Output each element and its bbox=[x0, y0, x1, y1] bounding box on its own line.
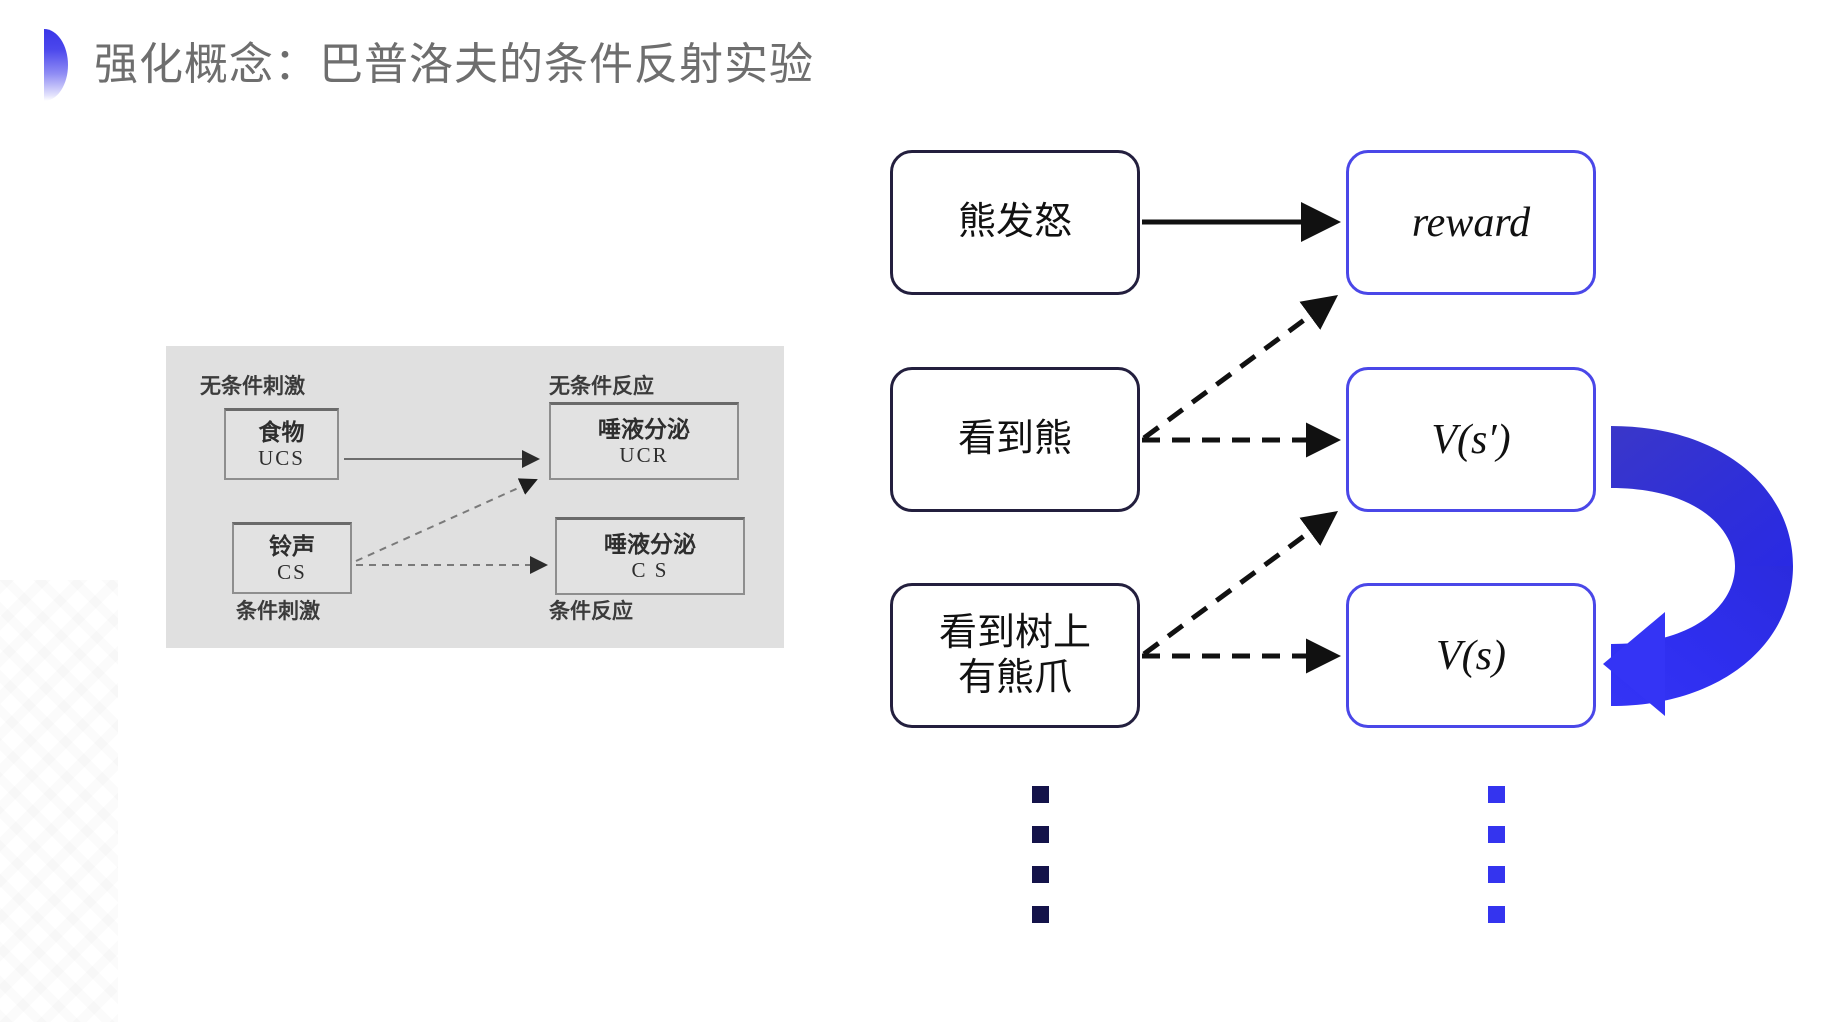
pavlov-box-food-en: UCS bbox=[258, 446, 305, 470]
page-title: 强化概念：巴普洛夫的条件反射实验 bbox=[94, 41, 814, 89]
pavlov-box-bell-en: CS bbox=[277, 560, 307, 584]
pavlov-box-bell-cn: 铃声 bbox=[269, 533, 315, 559]
background-watermark bbox=[0, 580, 118, 1022]
flow-node-bear-angry[interactable]: 熊发怒 bbox=[890, 150, 1140, 295]
ellipsis-dot bbox=[1032, 786, 1049, 803]
ellipsis-dot bbox=[1488, 906, 1505, 923]
flow-node-see-bear-claw-line1: 看到树上 bbox=[939, 611, 1091, 656]
pavlov-conditioning-figure: 无条件刺激 无条件反应 条件刺激 条件反应 食物 UCS 唾液分泌 UCR 铃声… bbox=[166, 346, 784, 648]
ellipsis-dot bbox=[1032, 826, 1049, 843]
ellipsis-dot bbox=[1032, 866, 1049, 883]
pavlov-box-salivation-cs: 唾液分泌 C S bbox=[555, 517, 745, 595]
slide-header: 强化概念：巴普洛夫的条件反射实验 bbox=[44, 26, 814, 104]
flow-node-see-bear-claw[interactable]: 看到树上 有熊爪 bbox=[890, 583, 1140, 728]
flow-node-see-bear-line1: 看到熊 bbox=[958, 417, 1072, 462]
flow-node-reward-label: reward bbox=[1412, 199, 1530, 247]
flow-node-see-bear[interactable]: 看到熊 bbox=[890, 367, 1140, 512]
pavlov-box-salivation-ucr-en: UCR bbox=[619, 443, 668, 467]
ellipsis-dot bbox=[1488, 866, 1505, 883]
loop-arrow-icon bbox=[1603, 416, 1813, 716]
pavlov-label-conditioned-stimulus: 条件刺激 bbox=[236, 595, 320, 625]
pavlov-label-unconditioned-stimulus: 无条件刺激 bbox=[200, 370, 305, 400]
pavlov-label-unconditioned-response: 无条件反应 bbox=[549, 370, 654, 400]
flow-node-bear-angry-line1: 熊发怒 bbox=[958, 200, 1072, 245]
flow-node-value-s[interactable]: V(s) bbox=[1346, 583, 1596, 728]
ellipsis-dot bbox=[1488, 786, 1505, 803]
flow-node-reward[interactable]: reward bbox=[1346, 150, 1596, 295]
flow-node-value-s-prime[interactable]: V(s′) bbox=[1346, 367, 1596, 512]
flow-node-value-s-label: V(s) bbox=[1436, 632, 1506, 680]
left-column-ellipsis bbox=[1032, 786, 1049, 923]
pavlov-box-salivation-cs-en: C S bbox=[632, 558, 669, 582]
pavlov-label-conditioned-response: 条件反应 bbox=[549, 595, 633, 625]
pavlov-box-salivation-cs-cn: 唾液分泌 bbox=[604, 531, 696, 557]
pavlov-box-salivation-ucr-cn: 唾液分泌 bbox=[598, 416, 690, 442]
rl-analogy-flow-diagram: 熊发怒 看到熊 看到树上 有熊爪 reward V(s′) V(s) bbox=[880, 140, 1640, 760]
pavlov-box-bell: 铃声 CS bbox=[232, 522, 352, 594]
pavlov-box-food-cn: 食物 bbox=[259, 419, 305, 445]
pavlov-box-salivation-ucr: 唾液分泌 UCR bbox=[549, 402, 739, 480]
flow-node-value-s-prime-label: V(s′) bbox=[1431, 416, 1510, 464]
flow-node-see-bear-claw-line2: 有熊爪 bbox=[939, 656, 1091, 701]
pavlov-box-food: 食物 UCS bbox=[224, 408, 339, 480]
slide-canvas: 强化概念：巴普洛夫的条件反射实验 无条件刺激 无条件反应 条件刺激 条件反应 食… bbox=[0, 0, 1826, 1022]
ellipsis-dot bbox=[1488, 826, 1505, 843]
title-bullet-icon bbox=[44, 29, 68, 101]
ellipsis-dot bbox=[1032, 906, 1049, 923]
right-column-ellipsis bbox=[1488, 786, 1505, 923]
